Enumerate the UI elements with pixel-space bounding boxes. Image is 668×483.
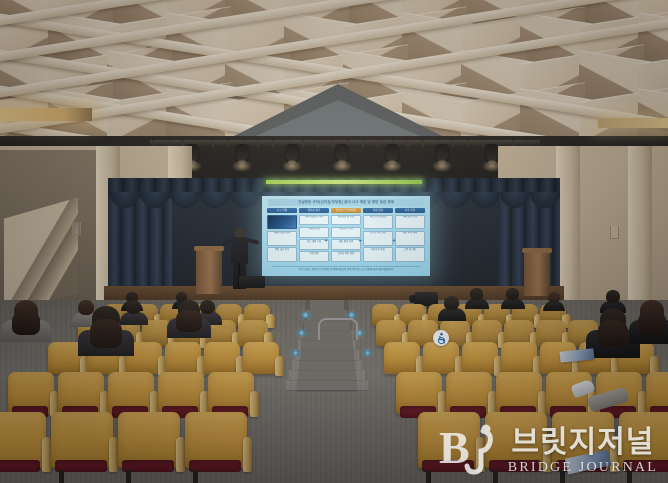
aisle-light [298,330,305,336]
watermark: B 브릿지저널 BRIDGE JOURNAL [439,423,658,475]
auditorium-photo: 송촌문화복지센터 건설현장 추락[넘어짐/부딪힘] 중대 사고 예방 및 예방 … [0,0,668,483]
slide-box: 작업 전 안전점검 [363,215,393,230]
audience-member-hair [176,310,202,332]
slide-column-header: 안전보건 관리체계 [331,208,361,213]
seat-armrest [275,356,284,376]
truss-brace [482,140,484,147]
audience-member-head [126,300,141,314]
wall-sconce-right [610,226,619,239]
auditorium-seat [243,342,279,374]
cove-light-left [0,108,92,121]
auditorium-seat [204,342,240,374]
spotlight [436,144,448,161]
truss-brace [302,140,304,147]
aisle-light [364,350,371,356]
auditorium-seat [462,342,498,374]
aisle-handrail-upper [318,318,358,340]
projection-screen: 건설현장 추락[넘어짐/부딪힘] 중대 사고 예방 및 예방 점검 체계 사고 … [262,196,430,276]
stairs [4,197,78,310]
aisle-light [302,312,309,318]
slide-box: 종사자 의견 청취 [331,251,361,262]
slide-column-header: 사고 현황 [267,208,297,213]
slide-footer: ※ 본 자료는 안전보건 교육용으로 제작되었으며 관련 법령 및 고시 기준에… [272,266,420,273]
auditorium-seat [384,342,420,374]
slide-columns: 사고 현황재해 유형별 통계위험 요인 분석위험성 평가유해·위험요인 파악위험… [267,208,425,262]
truss-brace [377,140,379,147]
truss-brace [332,140,334,147]
truss-brace [362,140,364,147]
seat-armrest [42,437,51,472]
slide-box: 보호구 착용 확인 [363,231,393,246]
green-led-strip [266,180,422,184]
auditorium-seat [501,342,537,374]
seat-armrest [109,437,118,472]
watermark-korean: 브릿지저널 [511,428,654,458]
slide-box: 비상조치 계획 [363,247,393,262]
spotlight [286,144,298,161]
slide-column-header: 사후 관리 [395,208,425,213]
slide-box: 이행 점검 [299,251,329,262]
aisle-step [286,380,368,391]
spotlight-glow [282,160,302,172]
coffered-ceiling [0,0,668,152]
slide-box: 위험성 추정 [299,227,329,238]
truss-brace [212,140,214,147]
slide-column: 안전보건 관리체계경영방침 및 목표전담조직 구성예산 편성·집행종사자 의견 … [331,208,361,262]
truss-brace [272,140,274,147]
slide-plus-connector: + [324,238,328,244]
slide-column: 현장 점검작업 전 안전점검보호구 착용 확인비상조치 계획 [363,208,393,262]
slide-plus-connector: + [358,238,362,244]
slide-column-header: 위험성 평가 [299,208,329,213]
spotlight-glow [332,160,352,172]
spotlight [486,144,498,161]
slide-box: 전담조직 구성 [331,227,361,238]
slide-box: 재해 유형별 통계 [267,231,297,246]
audience-member-head [606,290,620,303]
audience-member-head [200,300,215,314]
slide-box: 재발 방지 대책 [395,231,425,246]
spotlight-glow [232,160,252,172]
slide-column-header: 현장 점검 [363,208,393,213]
slide-column: 사고 현황재해 유형별 통계위험 요인 분석 [267,208,297,262]
audience-member-hair [12,311,40,335]
slide-box: 경영방침 및 목표 [331,215,361,226]
spotlight-glow [432,160,452,172]
bj-monogram-icon: B [439,423,501,475]
spotlight [236,144,248,161]
seat-armrest [243,437,252,472]
truss-brace [227,140,229,147]
audience-member-head [506,288,519,300]
seat-armrest [176,437,185,472]
audience-member-hair [638,311,666,335]
aisle-light [292,350,299,356]
slide-column: 사후 관리재해 원인 조사재발 방지 대책교육 및 개선 [395,208,425,262]
wheelchair-accessible-icon [433,330,449,346]
slide-box [267,215,297,230]
truss-brace [407,140,409,147]
slide-box: 유해·위험요인 파악 [299,215,329,226]
seat-leg [193,470,198,483]
slide-box: 예산 편성·집행 [331,239,361,250]
truss-brace [422,140,424,147]
slide-column: 위험성 평가유해·위험요인 파악위험성 추정감소 대책 수립이행 점검 [299,208,329,262]
seat-leg [59,470,64,483]
truss-brace [467,140,469,147]
column-right [628,146,652,318]
seat-leg [426,470,431,483]
audience-member-head [548,292,560,303]
auditorium-seat [423,342,459,374]
truss-brace [317,140,319,147]
cove-light-right [598,118,668,128]
slide-box: 위험 요인 분석 [267,247,297,262]
seat-cushion [0,460,40,472]
audience-member-head [78,300,94,315]
spotlight [336,144,348,161]
auditorium-seat [165,342,201,374]
stage-monitor-speaker [239,276,265,288]
left-stairwell-alcove [0,150,96,310]
audience-member-head [470,288,483,300]
slide-box: 교육 및 개선 [395,247,425,262]
audience-member-hair [90,319,122,348]
seat-leg [126,470,131,483]
presenter-torso [231,237,248,264]
truss-brace [452,140,454,147]
audience-member-hair [598,320,628,346]
podium-right [524,252,550,296]
watermark-english: BRIDGE JOURNAL [508,461,658,475]
podium-left [196,250,222,294]
truss-brace [257,140,259,147]
wall-sconce-left [72,222,81,235]
spotlight [386,144,398,161]
seat-armrest [250,391,259,417]
slide-plus-connector: + [392,238,396,244]
slide-title: 건설현장 추락[넘어짐/부딪힘] 중대 사고 예방 및 예방 점검 체계 [268,199,424,206]
audience-member-head [444,296,459,310]
spotlight-glow [382,160,402,172]
slide-box: 재해 원인 조사 [395,215,425,230]
